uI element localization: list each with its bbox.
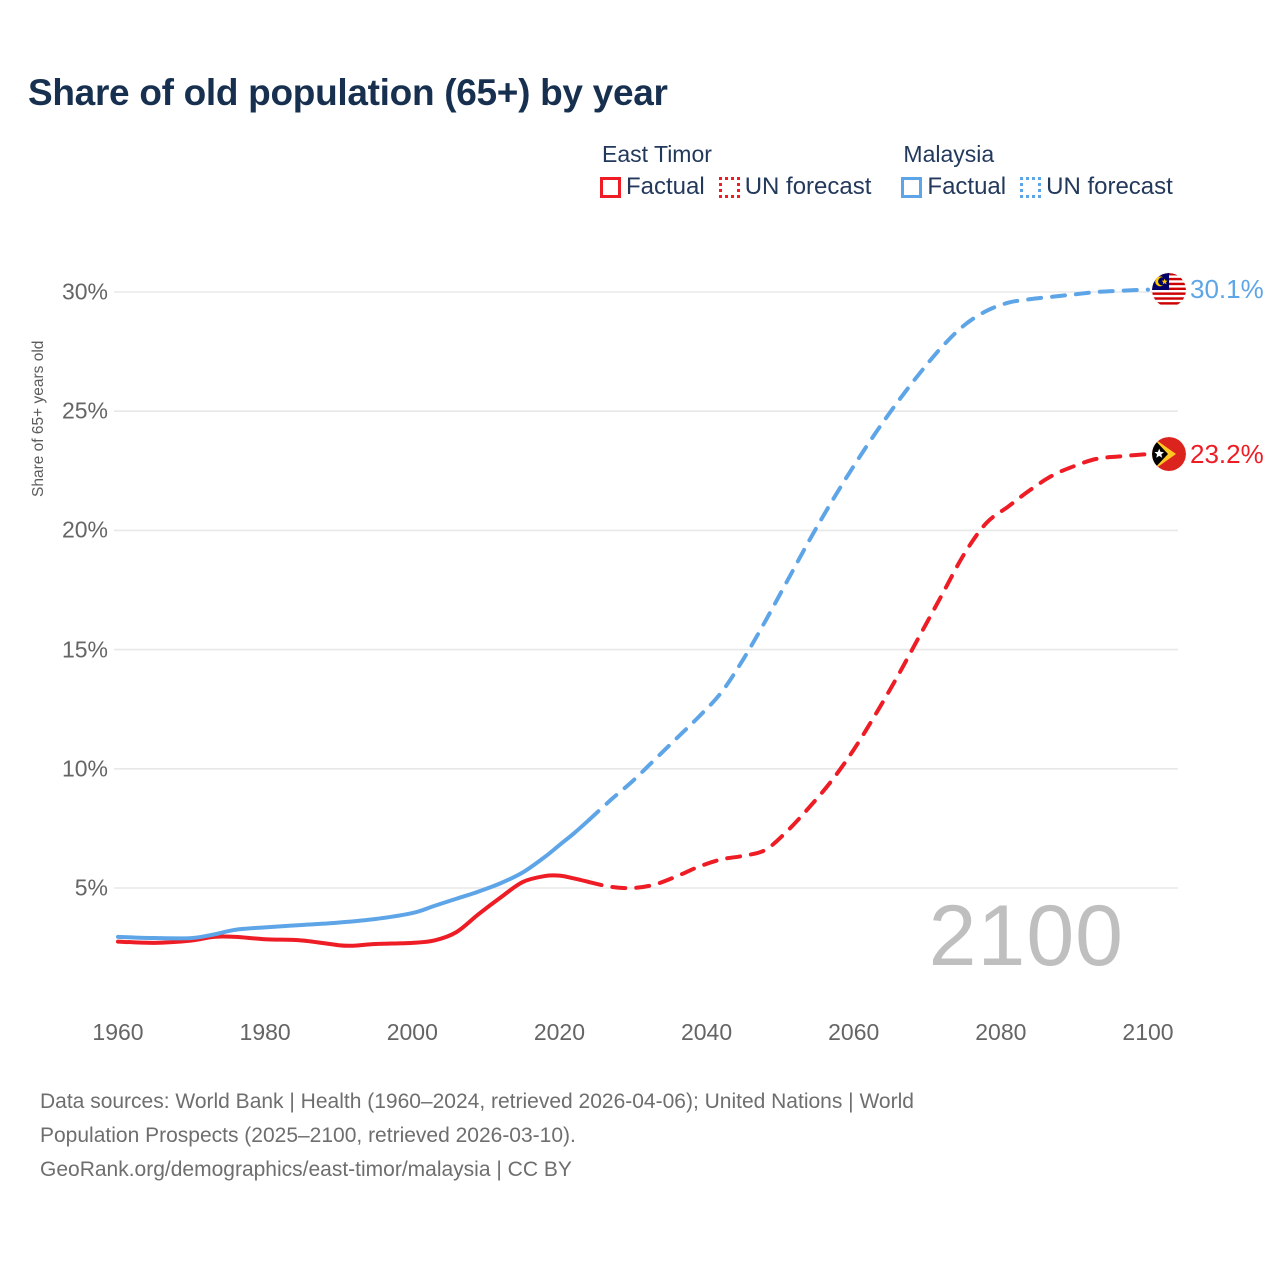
x-axis-tick-label: 2080 [975, 1019, 1026, 1046]
x-axis-tick-label: 1980 [240, 1019, 291, 1046]
series-line-malaysia-factual [118, 820, 589, 938]
x-axis-tick-label: 2040 [681, 1019, 732, 1046]
footer-line: Population Prospects (2025–2100, retriev… [40, 1119, 1190, 1153]
x-axis-tick-label: 2020 [534, 1019, 585, 1046]
series-line-malaysia-forecast [589, 290, 1148, 820]
series-line-east-timor-factual [118, 875, 589, 946]
malaysia-flag-icon [1152, 273, 1186, 307]
end-label-value: 30.1% [1190, 274, 1264, 305]
end-label-value: 23.2% [1190, 439, 1264, 470]
footer-line: Data sources: World Bank | Health (1960–… [40, 1085, 1190, 1119]
series-line-east-timor-forecast [589, 454, 1148, 888]
x-axis-tick-label: 2100 [1122, 1019, 1173, 1046]
x-axis-tick-label: 2000 [387, 1019, 438, 1046]
chart-container: Share of old population (65+) by year Ea… [0, 0, 1280, 1280]
footer-credits: Data sources: World Bank | Health (1960–… [40, 1085, 1190, 1187]
east-timor-flag-icon [1152, 437, 1186, 471]
x-axis-tick-label: 1960 [92, 1019, 143, 1046]
x-axis-tick-label: 2060 [828, 1019, 879, 1046]
footer-line: GeoRank.org/demographics/east-timor/mala… [40, 1153, 1190, 1187]
year-watermark: 2100 [929, 893, 1124, 979]
end-label-malaysia: 30.1% [1152, 273, 1264, 307]
end-label-east-timor: 23.2% [1152, 437, 1264, 471]
